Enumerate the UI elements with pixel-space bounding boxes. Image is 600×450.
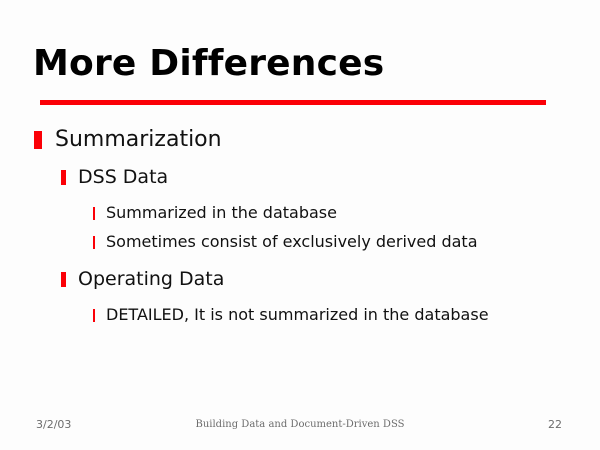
footer-title: Building Data and Document-Driven DSS [0, 419, 600, 430]
bullet-text: Summarized in the database [106, 202, 337, 224]
square-bullet-icon [34, 131, 42, 149]
slide: More Differences Summarization DSS Data … [0, 0, 600, 450]
bullet-text: Operating Data [78, 267, 224, 292]
line-bullet-icon [93, 207, 95, 220]
bullet-item-level3: DETAILED, It is not summarized in the da… [0, 304, 600, 333]
line-bullet-icon [93, 236, 95, 249]
footer-page-number: 22 [548, 418, 562, 431]
bar-bullet-icon [61, 272, 66, 287]
bullet-text: Summarization [55, 126, 222, 154]
slide-title: More Differences [33, 42, 384, 86]
bullet-item-level3: Sometimes consist of exclusively derived… [0, 231, 600, 260]
bullet-text: DETAILED, It is not summarized in the da… [106, 304, 489, 326]
bullet-item-level2: Operating Data [0, 267, 600, 297]
line-bullet-icon [93, 309, 95, 322]
slide-footer: 3/2/03 Building Data and Document-Driven… [0, 418, 600, 438]
bullet-item-level1: Summarization [0, 126, 600, 158]
slide-body-list: Summarization DSS Data Summarized in the… [0, 126, 600, 333]
bar-bullet-icon [61, 170, 66, 185]
bullet-text: DSS Data [78, 165, 168, 190]
bullet-text: Sometimes consist of exclusively derived… [106, 231, 478, 253]
title-underline-rule [40, 100, 546, 105]
bullet-item-level3: Summarized in the database [0, 202, 600, 231]
bullet-item-level2: DSS Data [0, 165, 600, 195]
